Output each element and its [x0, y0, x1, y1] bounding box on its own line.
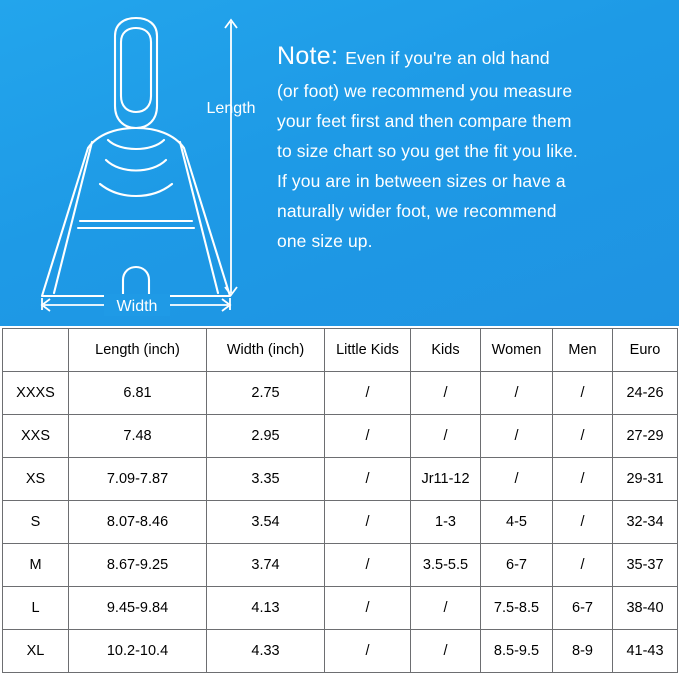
cell-women: 4-5 [481, 501, 553, 544]
cell-little-kids: / [325, 630, 411, 673]
note-line-4: to size chart so you get the fit you lik… [277, 136, 662, 166]
cell-size: S [3, 501, 69, 544]
note-line-1: Even if you're an old hand [345, 43, 549, 73]
cell-kids: 3.5-5.5 [411, 544, 481, 587]
cell-kids: / [411, 372, 481, 415]
cell-width: 3.74 [207, 544, 325, 587]
cell-length: 8.67-9.25 [69, 544, 207, 587]
header-size [3, 329, 69, 372]
width-label: Width [117, 298, 158, 315]
cell-kids: / [411, 587, 481, 630]
table-header-row: Length (inch) Width (inch) Little Kids K… [3, 329, 678, 372]
cell-kids: Jr11-12 [411, 458, 481, 501]
header-euro: Euro [613, 329, 678, 372]
cell-width: 2.75 [207, 372, 325, 415]
cell-width: 2.95 [207, 415, 325, 458]
table-row: XS 7.09-7.87 3.35 / Jr11-12 / / 29-31 [3, 458, 678, 501]
size-chart-page: Length Width Note: Even if you're an old… [0, 0, 679, 679]
cell-euro: 29-31 [613, 458, 678, 501]
note-line-5: If you are in between sizes or have a [277, 166, 662, 196]
cell-length: 6.81 [69, 372, 207, 415]
cell-men: / [553, 372, 613, 415]
cell-size: XXXS [3, 372, 69, 415]
cell-women: 6-7 [481, 544, 553, 587]
table-row: L 9.45-9.84 4.13 / / 7.5-8.5 6-7 38-40 [3, 587, 678, 630]
cell-women: / [481, 458, 553, 501]
note-line-3: your feet first and then compare them [277, 106, 662, 136]
header-length: Length (inch) [69, 329, 207, 372]
cell-length: 7.09-7.87 [69, 458, 207, 501]
table-row: S 8.07-8.46 3.54 / 1-3 4-5 / 32-34 [3, 501, 678, 544]
note-label: Note: [277, 42, 338, 71]
cell-men: 8-9 [553, 630, 613, 673]
cell-size: XL [3, 630, 69, 673]
size-chart-table: Length (inch) Width (inch) Little Kids K… [2, 328, 678, 673]
cell-men: / [553, 501, 613, 544]
note-line-2: (or foot) we recommend you measure [277, 76, 662, 106]
cell-little-kids: / [325, 587, 411, 630]
cell-little-kids: / [325, 372, 411, 415]
cell-length: 10.2-10.4 [69, 630, 207, 673]
cell-euro: 32-34 [613, 501, 678, 544]
cell-women: / [481, 372, 553, 415]
cell-little-kids: / [325, 458, 411, 501]
header-kids: Kids [411, 329, 481, 372]
cell-men: / [553, 415, 613, 458]
cell-width: 4.13 [207, 587, 325, 630]
note-line-7: one size up. [277, 226, 662, 256]
cell-little-kids: / [325, 415, 411, 458]
swim-fin-diagram: Length Width [20, 8, 265, 318]
cell-length: 9.45-9.84 [69, 587, 207, 630]
note-text-block: Note: Even if you're an old hand (or foo… [277, 42, 662, 256]
cell-width: 3.54 [207, 501, 325, 544]
cell-euro: 35-37 [613, 544, 678, 587]
info-panel: Length Width Note: Even if you're an old… [0, 0, 679, 326]
cell-kids: / [411, 630, 481, 673]
cell-men: / [553, 458, 613, 501]
length-label: Length [207, 100, 256, 117]
cell-little-kids: / [325, 544, 411, 587]
cell-women: / [481, 415, 553, 458]
table-row: XXXS 6.81 2.75 / / / / 24-26 [3, 372, 678, 415]
cell-men: / [553, 544, 613, 587]
table-row: XL 10.2-10.4 4.33 / / 8.5-9.5 8-9 41-43 [3, 630, 678, 673]
table-row: M 8.67-9.25 3.74 / 3.5-5.5 6-7 / 35-37 [3, 544, 678, 587]
cell-length: 8.07-8.46 [69, 501, 207, 544]
header-little-kids: Little Kids [325, 329, 411, 372]
cell-width: 4.33 [207, 630, 325, 673]
cell-women: 8.5-9.5 [481, 630, 553, 673]
cell-little-kids: / [325, 501, 411, 544]
header-men: Men [553, 329, 613, 372]
cell-euro: 38-40 [613, 587, 678, 630]
cell-euro: 24-26 [613, 372, 678, 415]
cell-size: M [3, 544, 69, 587]
header-width: Width (inch) [207, 329, 325, 372]
note-line-6: naturally wider foot, we recommend [277, 196, 662, 226]
header-women: Women [481, 329, 553, 372]
cell-women: 7.5-8.5 [481, 587, 553, 630]
cell-men: 6-7 [553, 587, 613, 630]
cell-kids: 1-3 [411, 501, 481, 544]
cell-kids: / [411, 415, 481, 458]
cell-size: L [3, 587, 69, 630]
cell-width: 3.35 [207, 458, 325, 501]
cell-euro: 41-43 [613, 630, 678, 673]
cell-euro: 27-29 [613, 415, 678, 458]
cell-length: 7.48 [69, 415, 207, 458]
cell-size: XS [3, 458, 69, 501]
table-row: XXS 7.48 2.95 / / / / 27-29 [3, 415, 678, 458]
cell-size: XXS [3, 415, 69, 458]
